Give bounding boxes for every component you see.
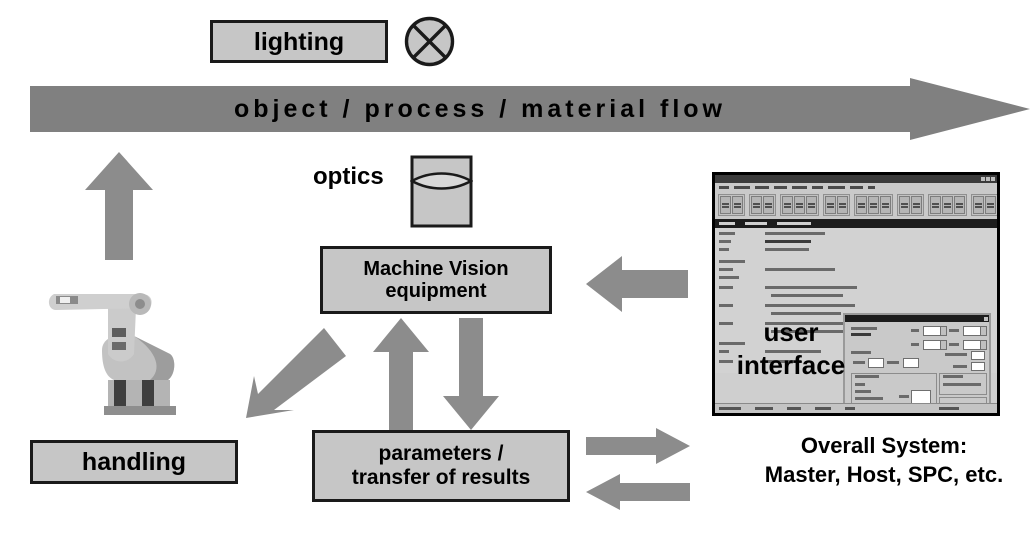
lens-symbol-icon bbox=[410, 155, 473, 228]
close-icon bbox=[991, 177, 995, 181]
node-parameters: parameters / transfer of results bbox=[312, 430, 570, 502]
connector-handling-to-flow-up-arrow-icon bbox=[84, 152, 154, 260]
node-optics-label: optics bbox=[313, 163, 384, 191]
user-interface-label: user interface bbox=[726, 316, 856, 381]
connector-machine-vision-to-parameters-down-arrow-icon bbox=[442, 318, 500, 430]
user-interface-line1: user bbox=[764, 317, 819, 347]
overall-system-line2: Master, Host, SPC, etc. bbox=[765, 462, 1003, 487]
robot-arm-photo-icon bbox=[30, 288, 202, 420]
node-lighting: lighting bbox=[210, 20, 388, 63]
parameters-line2: transfer of results bbox=[352, 466, 531, 489]
material-flow-label: object / process / material flow bbox=[160, 92, 800, 126]
connector-machine-vision-to-handling-diagonal-arrow-icon bbox=[228, 322, 348, 422]
screenshot-modal-dialog bbox=[843, 313, 991, 416]
screenshot-menu-bar bbox=[715, 183, 997, 191]
minimize-icon bbox=[981, 177, 985, 181]
connector-parameters-to-machine-vision-up-arrow-icon bbox=[372, 318, 430, 430]
screenshot-toolbar bbox=[715, 191, 997, 219]
user-interface-line2: interface bbox=[737, 350, 845, 380]
maximize-icon bbox=[986, 177, 990, 181]
connector-user-interface-to-machine-vision-left-arrow-icon bbox=[586, 256, 688, 312]
machine-vision-line2: equipment bbox=[385, 280, 486, 302]
screenshot-title-bar bbox=[715, 175, 997, 183]
parameters-line1: parameters / bbox=[379, 442, 504, 465]
connector-parameters-to-overall-system-right-arrow-icon bbox=[586, 428, 690, 464]
dialog-title-bar bbox=[845, 315, 989, 322]
overall-system-label: Overall System: Master, Host, SPC, etc. bbox=[736, 432, 1032, 489]
connector-overall-system-to-parameters-left-arrow-icon bbox=[586, 474, 690, 510]
diagram-canvas: lighting object / process / material flo… bbox=[0, 0, 1032, 536]
node-handling: handling bbox=[30, 440, 238, 484]
screenshot-column-header bbox=[715, 219, 997, 228]
overall-system-line1: Overall System: bbox=[801, 433, 967, 458]
node-machine-vision: Machine Vision equipment bbox=[320, 246, 552, 314]
machine-vision-line1: Machine Vision bbox=[363, 258, 508, 280]
screenshot-status-bar bbox=[715, 403, 1000, 413]
lamp-symbol-icon bbox=[404, 16, 455, 67]
